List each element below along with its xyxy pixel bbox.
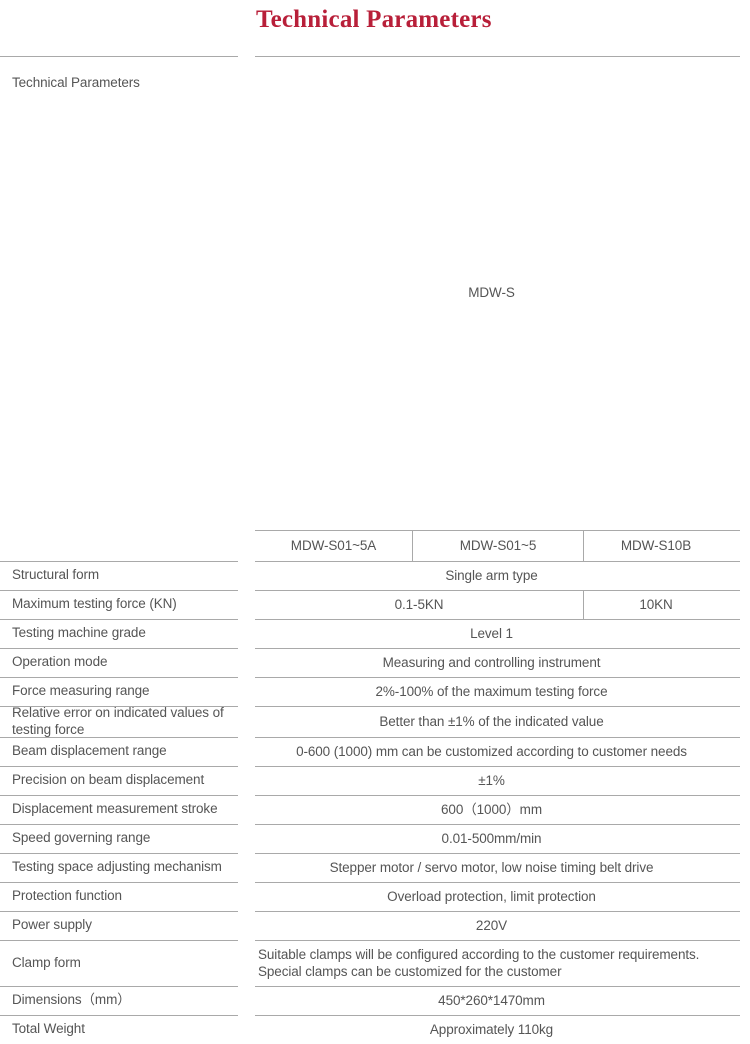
table-row: Protection function Overload protection,… xyxy=(0,882,750,911)
column-gutter xyxy=(238,882,255,911)
page-title: Technical Parameters xyxy=(256,6,492,34)
row-label: Structural form xyxy=(0,561,238,589)
row-label: Protection function xyxy=(0,882,238,910)
row-value: 220V xyxy=(255,912,728,940)
table-header-series-row: Technical Parameters MDW-S MDW-S01~5A MD… xyxy=(0,56,750,561)
row-label-text: Relative error on indicated values of te… xyxy=(12,705,236,738)
specifications-table: Technical Parameters MDW-S MDW-S01~5A MD… xyxy=(0,56,750,1044)
table-row: Maximum testing force (KN) 0.1-5KN 10KN xyxy=(0,590,750,619)
series-header-cell: MDW-S xyxy=(255,57,728,530)
row-label: Maximum testing force (KN) xyxy=(0,590,238,618)
column-gutter xyxy=(238,766,255,795)
row-value-area: 0.01-500mm/min xyxy=(255,824,740,853)
table-row: Operation mode Measuring and controlling… xyxy=(0,648,750,677)
table-row: Displacement measurement stroke 600（1000… xyxy=(0,795,750,824)
row-value: Suitable clamps will be configured accor… xyxy=(255,941,728,986)
row-value-area: Stepper motor / servo motor, low noise t… xyxy=(255,853,740,882)
table-row: Force measuring range 2%-100% of the max… xyxy=(0,677,750,706)
column-gutter xyxy=(238,986,255,1015)
row-label: Power supply xyxy=(0,911,238,939)
row-value: Better than ±1% of the indicated value xyxy=(255,707,728,737)
row-label: Precision on beam displacement xyxy=(0,766,238,794)
row-value: Approximately 110kg xyxy=(255,1016,728,1044)
column-gutter xyxy=(238,561,255,590)
row-value-area: Suitable clamps will be configured accor… xyxy=(255,940,740,986)
column-gutter xyxy=(238,911,255,940)
column-gutter xyxy=(238,853,255,882)
row-label: Testing machine grade xyxy=(0,619,238,647)
row-value-area: Better than ±1% of the indicated value xyxy=(255,706,740,737)
column-gutter xyxy=(238,677,255,706)
table-row: Precision on beam displacement ±1% xyxy=(0,766,750,795)
row-value-area: ±1% xyxy=(255,766,740,795)
row-label: Testing space adjusting mechanism xyxy=(0,853,238,881)
row-value: Single arm type xyxy=(255,562,728,590)
table-row: Structural form Single arm type xyxy=(0,561,750,590)
row-value-area: 220V xyxy=(255,911,740,940)
row-value: 450*260*1470mm xyxy=(255,987,728,1015)
row-value-area: Approximately 110kg xyxy=(255,1015,740,1044)
label-column-header: Technical Parameters xyxy=(0,56,238,109)
row-value-area: 450*260*1470mm xyxy=(255,986,740,1015)
column-gutter xyxy=(238,648,255,677)
row-label: Clamp form xyxy=(0,940,238,985)
row-value-text: Suitable clamps will be configured accor… xyxy=(258,947,699,981)
model-column-3: MDW-S10B xyxy=(583,531,728,561)
row-value-area: Measuring and controlling instrument xyxy=(255,648,740,677)
row-value-area: Overload protection, limit protection xyxy=(255,882,740,911)
model-column-2: MDW-S01~5 xyxy=(412,531,583,561)
column-gutter xyxy=(238,619,255,648)
row-value: 0.01-500mm/min xyxy=(255,825,728,853)
row-value-area: 0-600 (1000) mm can be customized accord… xyxy=(255,737,740,766)
model-column-1: MDW-S01~5A xyxy=(255,531,412,561)
row-label: Operation mode xyxy=(0,648,238,676)
column-gutter xyxy=(238,56,255,561)
row-value: 600（1000）mm xyxy=(255,796,728,824)
row-label: Relative error on indicated values of te… xyxy=(0,706,238,736)
row-label: Dimensions（mm） xyxy=(0,986,238,1014)
model-columns-row: MDW-S01~5A MDW-S01~5 MDW-S10B xyxy=(255,530,740,561)
row-label: Force measuring range xyxy=(0,677,238,705)
technical-parameters-page: Technical Parameters Technical Parameter… xyxy=(0,0,750,612)
row-value-area: Level 1 xyxy=(255,619,740,648)
table-row: Dimensions（mm） 450*260*1470mm xyxy=(0,986,750,1015)
table-row: Clamp form Suitable clamps will be confi… xyxy=(0,940,750,986)
row-label: Speed governing range xyxy=(0,824,238,852)
table-row: Total Weight Approximately 110kg xyxy=(0,1015,750,1044)
column-gutter xyxy=(238,737,255,766)
column-gutter xyxy=(238,1015,255,1044)
row-label: Total Weight xyxy=(0,1015,238,1043)
row-value: 2%-100% of the maximum testing force xyxy=(255,678,728,706)
column-gutter xyxy=(238,940,255,986)
column-gutter xyxy=(238,706,255,737)
table-row: Beam displacement range 0-600 (1000) mm … xyxy=(0,737,750,766)
table-row: Testing machine grade Level 1 xyxy=(0,619,750,648)
row-label: Displacement measurement stroke xyxy=(0,795,238,823)
table-row: Relative error on indicated values of te… xyxy=(0,706,750,737)
column-gutter xyxy=(238,795,255,824)
table-row: Power supply 220V xyxy=(0,911,750,940)
row-value-area: Single arm type xyxy=(255,561,740,590)
column-gutter xyxy=(238,824,255,853)
row-value: Overload protection, limit protection xyxy=(255,883,728,911)
table-row: Testing space adjusting mechanism Steppe… xyxy=(0,853,750,882)
row-value: Level 1 xyxy=(255,620,728,648)
column-gutter xyxy=(238,590,255,619)
row-value: 0-600 (1000) mm can be customized accord… xyxy=(255,738,728,766)
row-value-area: 2%-100% of the maximum testing force xyxy=(255,677,740,706)
header-value-area: MDW-S MDW-S01~5A MDW-S01~5 MDW-S10B xyxy=(255,56,740,561)
row-value: ±1% xyxy=(255,767,728,795)
row-value: 0.1-5KN xyxy=(255,591,583,619)
row-value: Measuring and controlling instrument xyxy=(255,649,728,677)
table-row: Speed governing range 0.01-500mm/min xyxy=(0,824,750,853)
row-label: Beam displacement range xyxy=(0,737,238,765)
row-value: Stepper motor / servo motor, low noise t… xyxy=(255,854,728,882)
row-value-area: 0.1-5KN 10KN xyxy=(255,590,740,619)
row-value: 10KN xyxy=(583,591,728,619)
row-value-area: 600（1000）mm xyxy=(255,795,740,824)
